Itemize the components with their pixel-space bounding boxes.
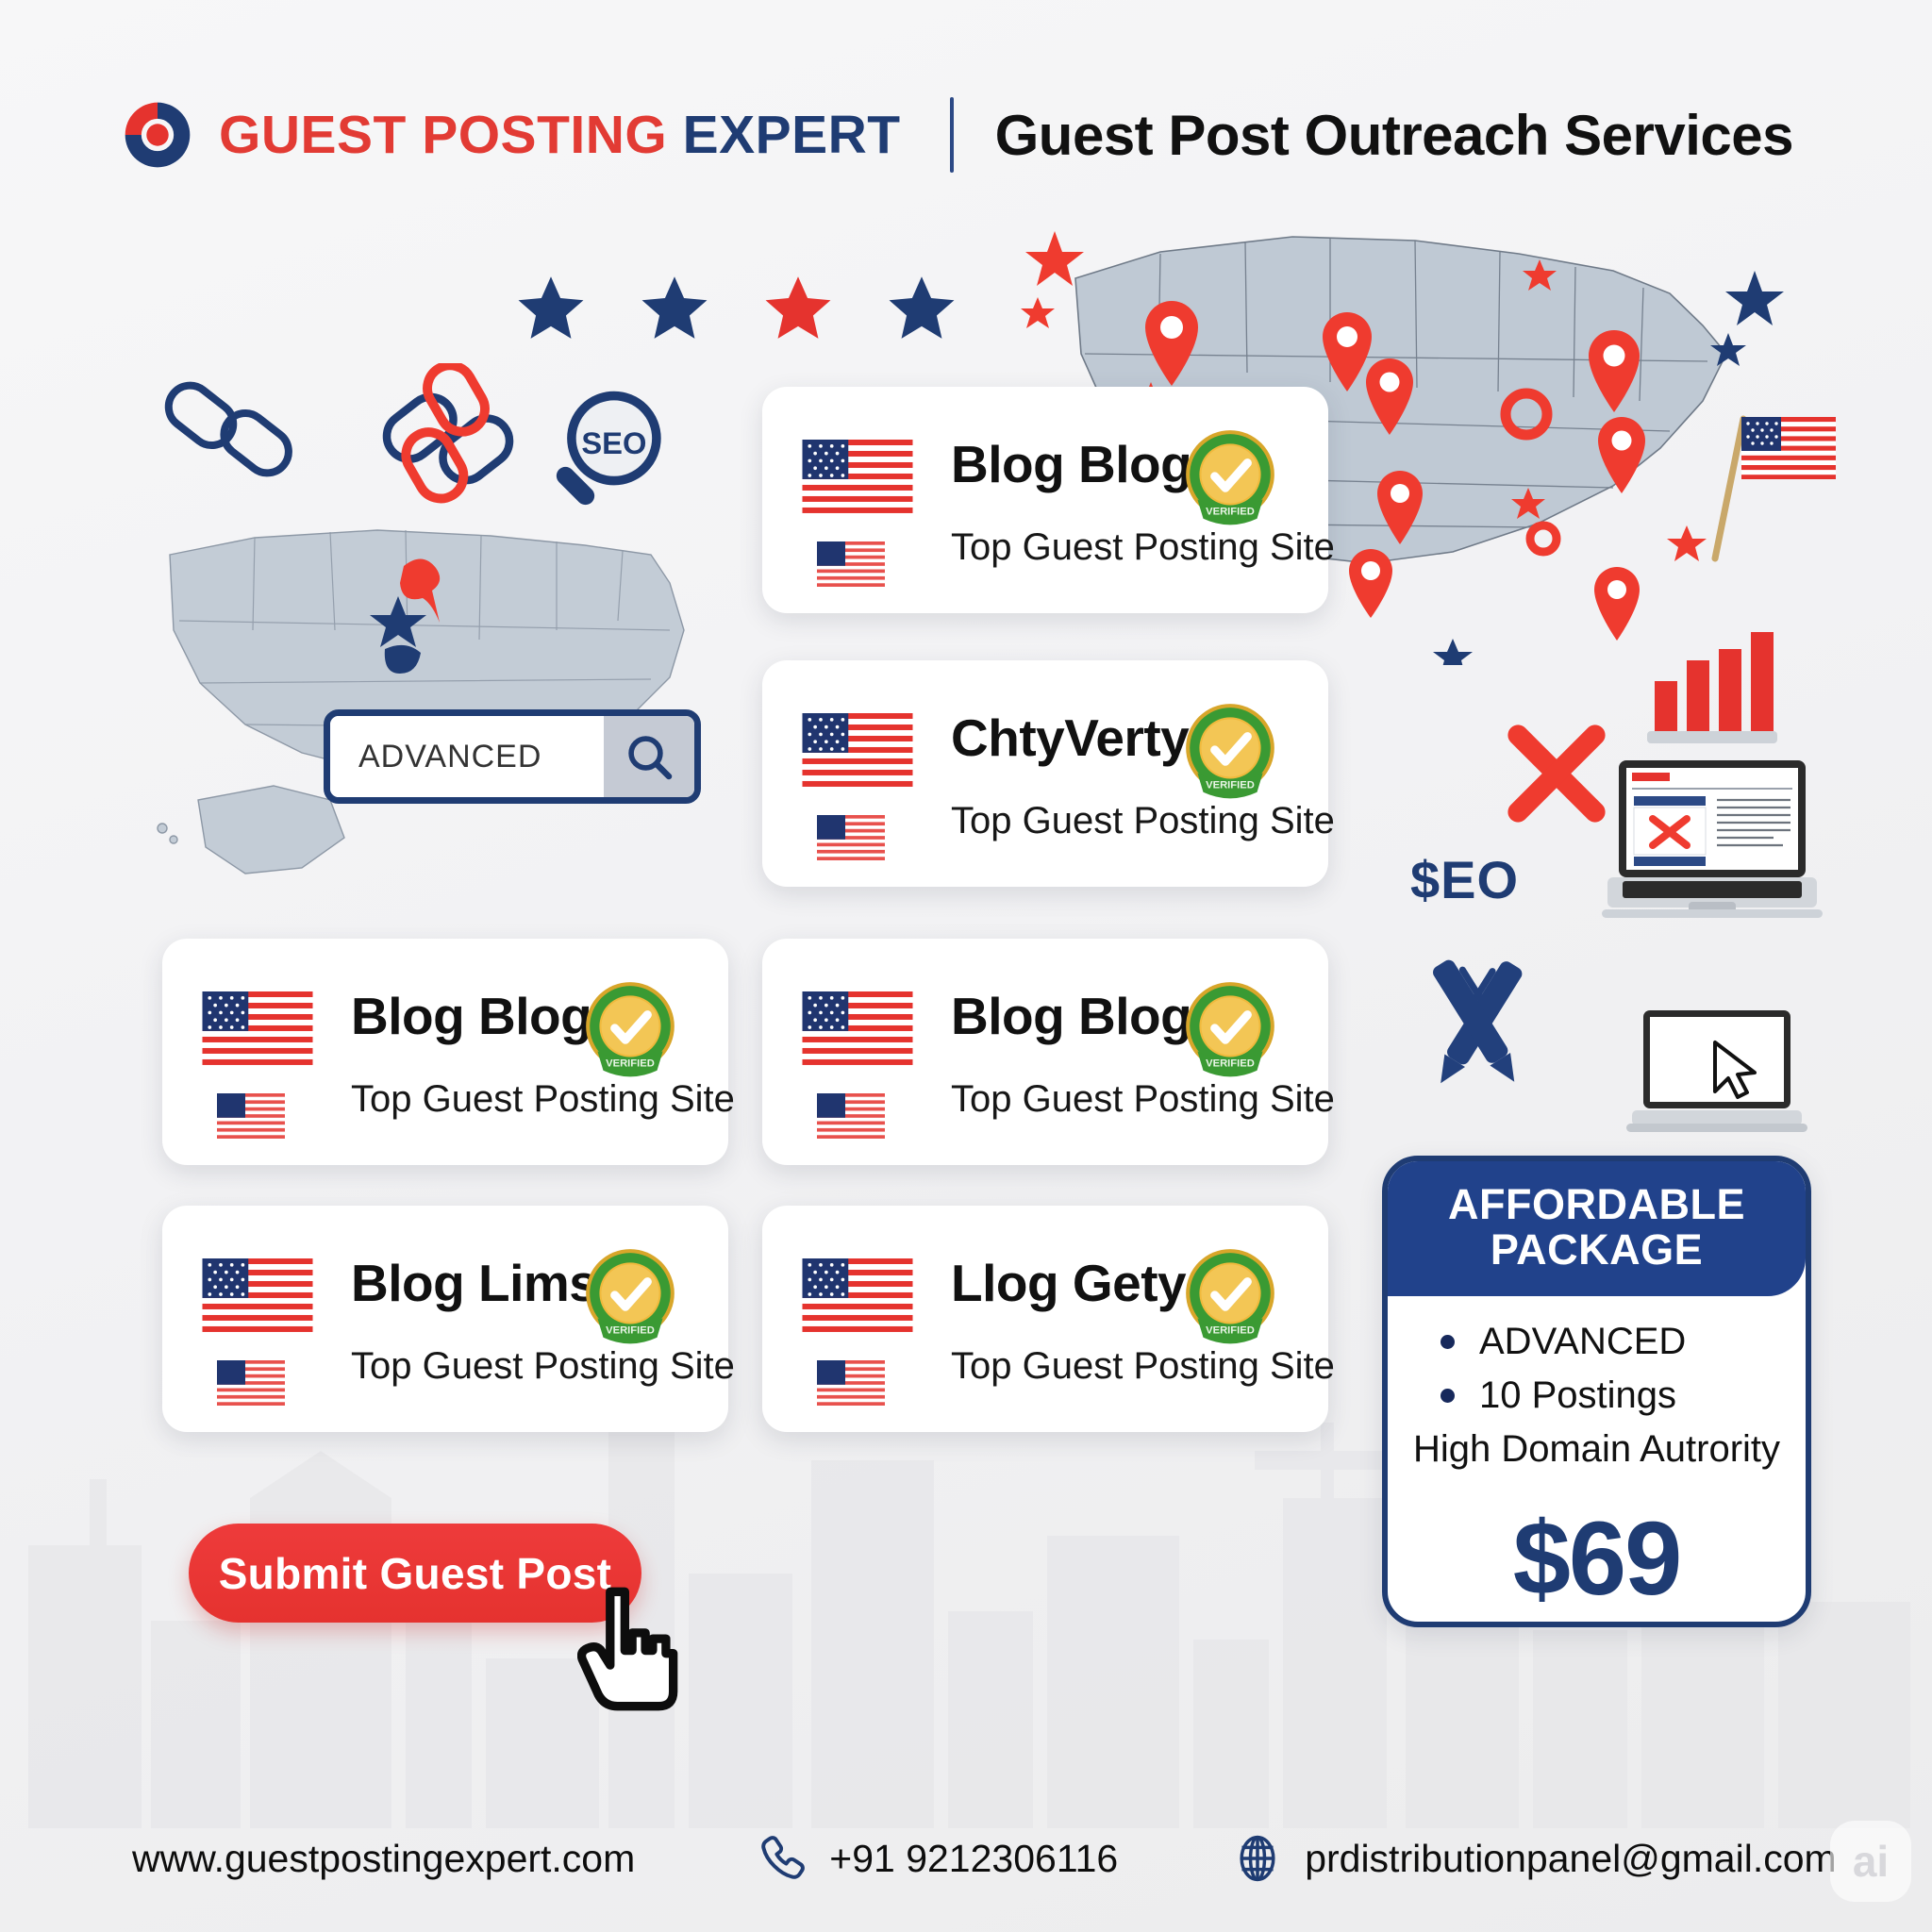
bar-chart-icon xyxy=(1641,623,1783,745)
site-card[interactable]: Llog Gety Top Guest Posting Site VERIFIE… xyxy=(762,1206,1328,1432)
us-flag-icon xyxy=(202,991,313,1065)
package-feature-list: ADVANCED 10 Postings xyxy=(1388,1321,1806,1417)
us-flag-icon xyxy=(802,991,913,1065)
brand-name: GUEST POSTING EXPERT xyxy=(219,104,901,166)
package-heading-line2: PACKAGE xyxy=(1397,1227,1796,1273)
footer-email[interactable]: prdistributionpanel@gmail.com xyxy=(1231,1832,1837,1885)
site-card[interactable]: Blog Lims Top Guest Posting Site VERIFIE… xyxy=(162,1206,728,1432)
footer-website[interactable]: www.guestpostingexpert.com xyxy=(132,1837,635,1881)
us-flag-icon xyxy=(802,440,913,513)
star-icon xyxy=(514,272,588,345)
site-card[interactable]: Blog Blog Top Guest Posting Site VERIFIE… xyxy=(762,939,1328,1165)
site-card-subtitle: Top Guest Posting Site xyxy=(951,526,1335,569)
site-card-title: Blog Lims xyxy=(351,1253,597,1313)
phone-icon xyxy=(756,1832,808,1885)
svg-text:VERIFIED: VERIFIED xyxy=(1206,507,1255,518)
globe-icon xyxy=(1231,1832,1284,1885)
site-card-subtitle: Top Guest Posting Site xyxy=(951,1078,1335,1121)
star-icon xyxy=(885,272,958,345)
ai-watermark: ai xyxy=(1830,1821,1911,1902)
site-card[interactable]: ChtyVerty Top Guest Posting Site VERIFIE… xyxy=(762,660,1328,887)
page-title: Guest Post Outreach Services xyxy=(995,103,1793,168)
package-feature-item: 10 Postings xyxy=(1441,1374,1806,1417)
package-feature-label: 10 Postings xyxy=(1479,1374,1676,1417)
us-flag-icon xyxy=(802,1258,913,1332)
package-header: AFFORDABLE PACKAGE xyxy=(1388,1161,1806,1296)
bullet-icon xyxy=(1441,1389,1455,1403)
submit-guest-post-button[interactable]: Submit Guest Post xyxy=(189,1524,641,1623)
target-logo-icon xyxy=(121,98,194,172)
crossed-pens-icon xyxy=(1396,943,1557,1104)
laptop-icon xyxy=(1594,755,1830,934)
seo-magnifier-icon: SEO xyxy=(538,387,670,528)
package-note: High Domain Autrority xyxy=(1388,1428,1806,1471)
footer-website-label: www.guestpostingexpert.com xyxy=(132,1837,635,1881)
svg-text:VERIFIED: VERIFIED xyxy=(606,1325,655,1337)
chain-link-icon xyxy=(156,363,307,495)
us-flag-small-icon xyxy=(817,1360,885,1406)
brand-name-part1: GUEST POSTING xyxy=(219,105,683,165)
star-icon xyxy=(761,272,835,345)
page-header: GUEST POSTING EXPERT Guest Post Outreach… xyxy=(0,83,1932,187)
footer-phone[interactable]: +91 9212306116 xyxy=(756,1832,1118,1885)
site-card-subtitle: Top Guest Posting Site xyxy=(951,800,1335,842)
site-card-subtitle: Top Guest Posting Site xyxy=(351,1345,735,1388)
us-flag-icon xyxy=(1698,396,1840,566)
verified-badge-icon: VERIFIED xyxy=(581,1245,679,1349)
us-flag-small-icon xyxy=(217,1093,285,1139)
bullet-icon xyxy=(1441,1335,1455,1349)
verified-badge-icon: VERIFIED xyxy=(1181,700,1279,804)
us-flag-small-icon xyxy=(217,1360,285,1406)
svg-text:VERIFIED: VERIFIED xyxy=(1206,1325,1255,1337)
site-card-subtitle: Top Guest Posting Site xyxy=(351,1078,735,1121)
verified-badge-icon: VERIFIED xyxy=(1181,978,1279,1082)
svg-text:SEO: SEO xyxy=(581,425,646,460)
site-card-title: Blog Blog xyxy=(951,434,1191,494)
package-price: $69 xyxy=(1388,1499,1806,1619)
site-card[interactable]: Blog Blog Top Guest Posting Site VERIFIE… xyxy=(762,387,1328,613)
verified-badge-icon: VERIFIED xyxy=(1181,426,1279,530)
page-footer: www.guestpostingexpert.com +91 921230611… xyxy=(0,1816,1932,1901)
svg-text:VERIFIED: VERIFIED xyxy=(1206,780,1255,791)
us-map-left xyxy=(142,517,726,894)
package-feature-label: ADVANCED xyxy=(1479,1321,1686,1363)
laptop-cursor-icon xyxy=(1623,1005,1811,1146)
site-card[interactable]: Blog Blog Top Guest Posting Site VERIFIE… xyxy=(162,939,728,1165)
seo-dollar-label: $EO xyxy=(1410,849,1519,910)
site-card-title: ChtyVerty xyxy=(951,708,1189,768)
verified-badge-icon: VERIFIED xyxy=(1181,1245,1279,1349)
package-feature-item: ADVANCED xyxy=(1441,1321,1806,1363)
verified-badge-icon: VERIFIED xyxy=(581,978,679,1082)
footer-phone-label: +91 9212306116 xyxy=(829,1837,1118,1881)
package-heading-line1: AFFORDABLE xyxy=(1397,1182,1796,1227)
search-bar[interactable]: ADVANCED xyxy=(324,709,701,804)
us-flag-small-icon xyxy=(817,1093,885,1139)
us-flag-icon xyxy=(802,713,913,787)
us-flag-icon xyxy=(202,1258,313,1332)
decorative-stars-row xyxy=(514,272,958,345)
us-flag-small-icon xyxy=(817,815,885,860)
chain-link-red-icon xyxy=(368,363,528,514)
search-icon xyxy=(623,730,675,783)
site-card-title: Blog Blog xyxy=(951,986,1191,1046)
footer-email-label: prdistributionpanel@gmail.com xyxy=(1305,1837,1837,1881)
search-button[interactable] xyxy=(604,716,694,797)
site-card-title: Llog Gety xyxy=(951,1253,1186,1313)
hand-pointer-icon xyxy=(577,1583,681,1715)
search-input[interactable]: ADVANCED xyxy=(330,716,604,797)
svg-text:VERIFIED: VERIFIED xyxy=(606,1058,655,1070)
site-card-subtitle: Top Guest Posting Site xyxy=(951,1345,1335,1388)
star-icon xyxy=(638,272,711,345)
svg-text:VERIFIED: VERIFIED xyxy=(1206,1058,1255,1070)
brand-name-part2: EXPERT xyxy=(683,105,901,165)
site-card-title: Blog Blog xyxy=(351,986,591,1046)
header-divider xyxy=(950,97,954,173)
package-card[interactable]: AFFORDABLE PACKAGE ADVANCED 10 Postings … xyxy=(1382,1156,1811,1627)
us-flag-small-icon xyxy=(817,541,885,587)
brand-logo[interactable]: GUEST POSTING EXPERT xyxy=(121,98,901,172)
